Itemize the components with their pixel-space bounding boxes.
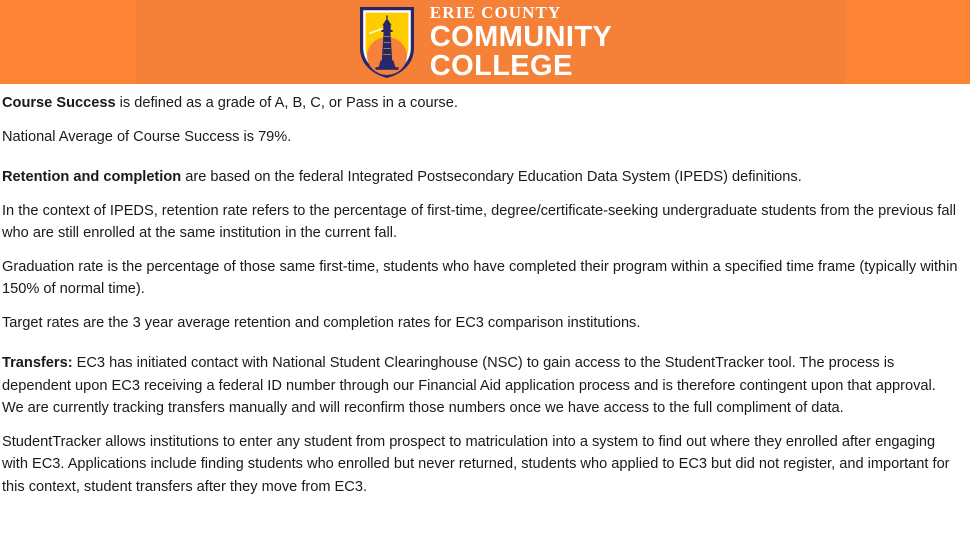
definitions-content: Course Success is defined as a grade of … [0,84,970,498]
institution-wordmark: ERIE COUNTY COMMUNITY COLLEGE [430,4,612,81]
paragraph-transfers: Transfers: EC3 has initiated contact wit… [2,352,958,420]
paragraph-retention-rate-context: In the context of IPEDS, retention rate … [2,200,958,245]
paragraph-studenttracker: StudentTracker allows institutions to en… [2,431,958,499]
header-banner: ERIE COUNTY COMMUNITY COLLEGE [0,0,970,84]
wordmark-line-community: COMMUNITY [430,23,612,52]
paragraph-lead-course-success-definition: Course Success [2,95,116,111]
institution-logo: ERIE COUNTY COMMUNITY COLLEGE [0,0,970,84]
paragraph-course-success-definition: Course Success is defined as a grade of … [2,92,958,115]
wordmark-eyebrow: ERIE COUNTY [430,4,612,21]
wordmark-main: COMMUNITY COLLEGE [430,23,612,81]
paragraph-lead-transfers: Transfers: [2,355,73,371]
wordmark-line-college: COLLEGE [430,52,612,81]
paragraph-target-rates: Target rates are the 3 year average rete… [2,312,958,335]
paragraph-retention-completion-definition: Retention and completion are based on th… [2,166,958,189]
paragraph-lead-retention-completion-definition: Retention and completion [2,169,181,185]
paragraph-graduation-rate-context: Graduation rate is the percentage of tho… [2,256,958,301]
shield-lighthouse-logo-icon [358,4,416,80]
paragraph-national-average: National Average of Course Success is 79… [2,126,958,149]
